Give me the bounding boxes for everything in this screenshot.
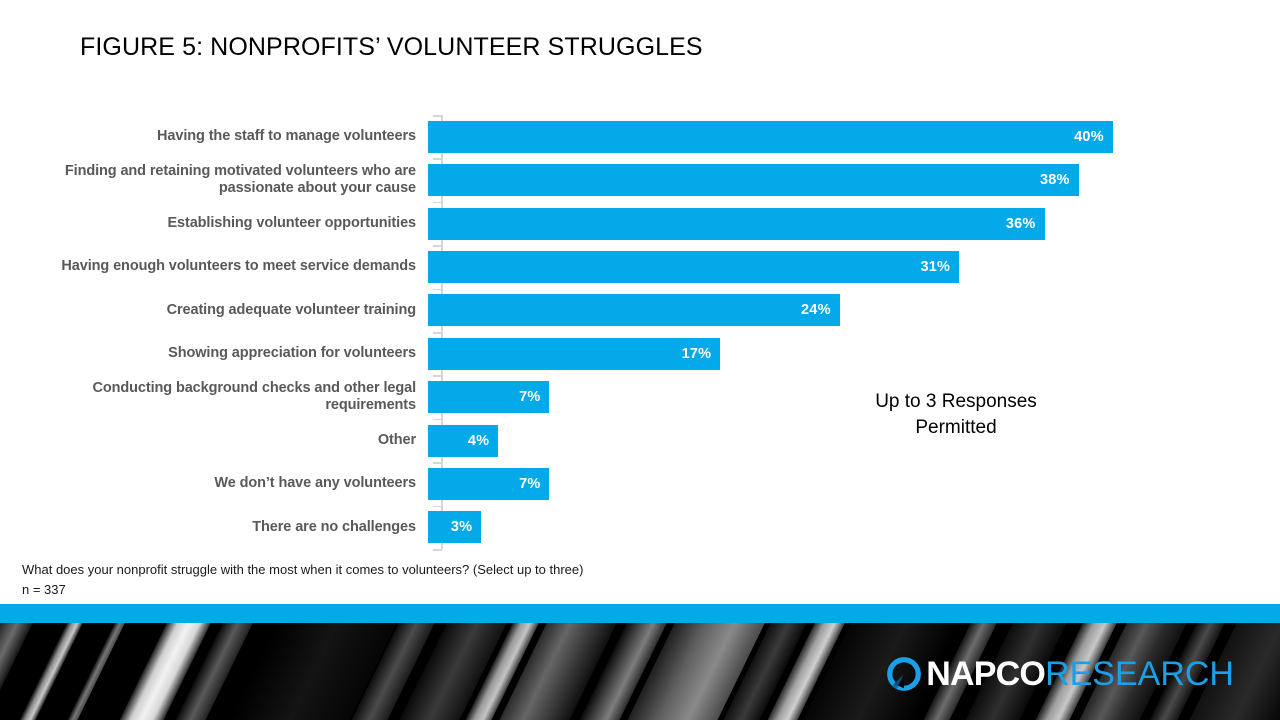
axis-tick — [433, 419, 442, 421]
response-limit-annotation: Up to 3 Responses Permitted — [836, 389, 1076, 441]
bar[interactable]: 38% — [428, 164, 1079, 196]
footnote-block: What does your nonprofit struggle with t… — [22, 560, 583, 600]
bar-track: 24% — [428, 294, 1200, 326]
logo-text-research: RESEARCH — [1045, 657, 1234, 691]
category-label: Conducting background checks and other l… — [0, 380, 428, 414]
axis-tick — [433, 289, 442, 291]
axis-tick — [433, 332, 442, 334]
bar-row: Having the staff to manage volunteers40% — [0, 121, 1200, 153]
bar-row: Establishing volunteer opportunities36% — [0, 208, 1200, 240]
bar-track: 40% — [428, 121, 1200, 153]
bar-row: There are no challenges3% — [0, 511, 1200, 543]
category-label: Showing appreciation for volunteers — [0, 345, 428, 362]
bar-value-label: 38% — [1040, 172, 1070, 188]
sample-size: n = 337 — [22, 580, 583, 600]
bar[interactable]: 31% — [428, 251, 959, 283]
category-label: There are no challenges — [0, 519, 428, 536]
bar-value-label: 7% — [519, 389, 540, 405]
axis-tick — [433, 462, 442, 464]
bar[interactable]: 7% — [428, 381, 549, 413]
bar[interactable]: 7% — [428, 468, 549, 500]
bar-chart: Having the staff to manage volunteers40%… — [0, 113, 1200, 553]
bar-value-label: 40% — [1074, 129, 1104, 145]
annotation-line-2: Permitted — [836, 415, 1076, 441]
bar-track: 17% — [428, 338, 1200, 370]
category-label: Creating adequate volunteer training — [0, 302, 428, 319]
bar[interactable]: 40% — [428, 121, 1113, 153]
bar-track: 7% — [428, 381, 1200, 413]
axis-tick — [433, 375, 442, 377]
bar[interactable]: 24% — [428, 294, 840, 326]
category-label: We don’t have any volunteers — [0, 475, 428, 492]
bar-track: 38% — [428, 164, 1200, 196]
bar[interactable]: 3% — [428, 511, 481, 543]
bar-value-label: 7% — [519, 476, 540, 492]
axis-tick — [433, 115, 442, 117]
annotation-line-1: Up to 3 Responses — [836, 389, 1076, 415]
axis-tick — [433, 158, 442, 160]
axis-tick — [433, 506, 442, 508]
bar-track: 3% — [428, 511, 1200, 543]
survey-question: What does your nonprofit struggle with t… — [22, 560, 583, 580]
bar-row: Creating adequate volunteer training24% — [0, 294, 1200, 326]
bar-track: 4% — [428, 425, 1200, 457]
bar-row: Showing appreciation for volunteers17% — [0, 338, 1200, 370]
bar-track: 36% — [428, 208, 1200, 240]
bar-value-label: 36% — [1006, 216, 1036, 232]
bar-value-label: 17% — [682, 346, 712, 362]
bar[interactable]: 36% — [428, 208, 1045, 240]
logo-text-napco: NAPCO — [926, 657, 1045, 691]
bar-value-label: 31% — [921, 259, 951, 275]
bar[interactable]: 4% — [428, 425, 498, 457]
category-label: Other — [0, 432, 428, 449]
bar-value-label: 4% — [468, 433, 489, 449]
bar-value-label: 24% — [801, 302, 831, 318]
footer-accent-band — [0, 604, 1280, 623]
axis-tick — [433, 549, 442, 551]
bar-track: 31% — [428, 251, 1200, 283]
category-label: Having the staff to manage volunteers — [0, 128, 428, 145]
bar-row: Having enough volunteers to meet service… — [0, 251, 1200, 283]
napco-ring-icon — [885, 655, 923, 693]
axis-tick — [433, 202, 442, 204]
bar-row: We don’t have any volunteers7% — [0, 468, 1200, 500]
bar-row: Finding and retaining motivated voluntee… — [0, 164, 1200, 196]
page-title: FIGURE 5: NONPROFITS’ VOLUNTEER STRUGGLE… — [80, 33, 703, 62]
category-label: Having enough volunteers to meet service… — [0, 258, 428, 275]
bar-value-label: 3% — [451, 519, 472, 535]
axis-tick — [433, 245, 442, 247]
bar[interactable]: 17% — [428, 338, 720, 370]
category-label: Establishing volunteer opportunities — [0, 215, 428, 232]
napco-research-logo: NAPCO RESEARCH — [885, 652, 1234, 696]
category-label: Finding and retaining motivated voluntee… — [0, 163, 428, 197]
bar-track: 7% — [428, 468, 1200, 500]
